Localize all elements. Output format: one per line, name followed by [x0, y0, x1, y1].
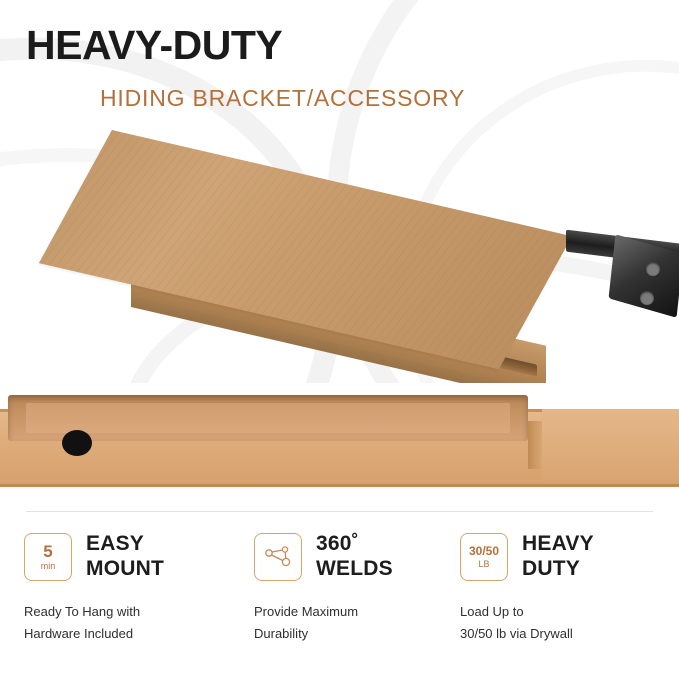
feature-description: Load Up to 30/50 lb via Drywall	[460, 601, 660, 645]
mdf-solid-end	[542, 409, 679, 481]
badge-value: 30/50	[469, 545, 499, 558]
weight-badge-icon: 30/50 LB	[460, 533, 508, 581]
feature-heading-line2: WELDS	[316, 557, 393, 580]
feature-desc-line2: 30/50 lb via Drywall	[460, 626, 573, 641]
feature-heading-line2: DUTY	[522, 557, 580, 580]
feature-heading: HEAVY DUTY	[522, 531, 594, 581]
feature-divider	[26, 511, 653, 512]
badge-unit: min	[41, 561, 56, 572]
feature-description: Ready To Hang with Hardware Included	[24, 601, 224, 645]
feature-heading-line1: EASY	[86, 532, 144, 555]
feature-heading: EASY MOUNT	[86, 531, 164, 581]
feature-description: Provide Maximum Durability	[254, 601, 454, 645]
feature-heading: 360˚ WELDS	[316, 531, 393, 581]
feature-heading-line1: 360˚	[316, 532, 359, 555]
feature-heading-line1: HEAVY	[522, 532, 594, 555]
feature-desc-line1: Provide Maximum	[254, 604, 358, 619]
feature-heading-line2: MOUNT	[86, 557, 164, 580]
page-subtitle: HIDING BRACKET/ACCESSORY	[100, 85, 465, 112]
bracket-screw-hole	[640, 291, 654, 305]
mdf-channel-inner	[26, 403, 510, 433]
mdf-channel-end	[528, 421, 542, 469]
bracket-screw-hole	[646, 262, 660, 276]
page-title: HEAVY-DUTY	[26, 22, 282, 69]
shelf-cutaway-photo	[0, 383, 679, 503]
feature-desc-line1: Ready To Hang with	[24, 604, 140, 619]
feature-row: 5 min EASY MOUNT Ready To Hang with Hard…	[0, 503, 679, 679]
feature-desc-line2: Hardware Included	[24, 626, 133, 641]
product-infographic: HEAVY-DUTY HIDING BRACKET/ACCESSORY 5 mi…	[0, 0, 679, 679]
feature-desc-line1: Load Up to	[460, 604, 524, 619]
badge-unit: LB	[478, 559, 489, 570]
time-badge-icon: 5 min	[24, 533, 72, 581]
badge-value: 5	[43, 543, 52, 560]
feature-desc-line2: Durability	[254, 626, 308, 641]
weld-nodes-icon	[254, 533, 302, 581]
header: HEAVY-DUTY HIDING BRACKET/ACCESSORY	[0, 0, 679, 128]
mounting-hole	[62, 430, 92, 456]
